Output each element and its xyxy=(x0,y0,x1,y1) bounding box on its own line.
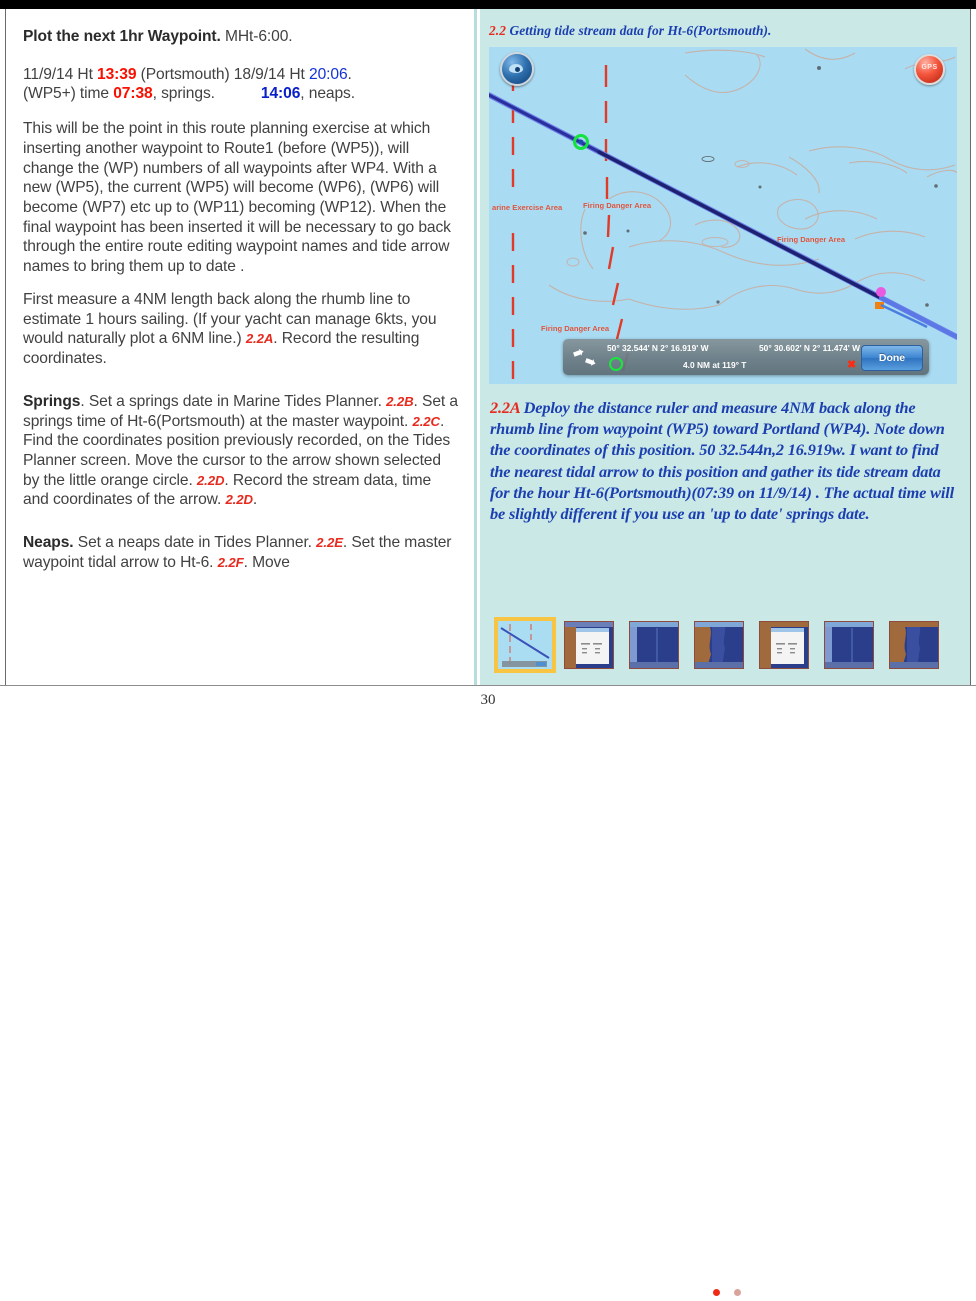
map-label-marine-exercise-area: arine Exercise Area xyxy=(492,203,562,212)
document-page: Plot the next 1hr Waypoint. MHt-6:00. 11… xyxy=(0,0,976,722)
thumbnail-chart-dark-2[interactable] xyxy=(824,621,874,669)
springs-text-e: . xyxy=(253,491,257,508)
page-dot-2[interactable] xyxy=(734,1289,741,1296)
page-dots xyxy=(494,1283,960,1295)
section-number: 2.2 xyxy=(489,23,506,38)
thumbnail-strip xyxy=(494,617,960,673)
springs-label: Springs xyxy=(23,393,80,410)
instruction-paragraph-text: Deploy the distance ruler and measure 4N… xyxy=(490,398,954,523)
ruler-coord-to: 50° 30.602' N 2° 11.474' W xyxy=(759,343,860,353)
tide-times-block: 11/9/14 Ht 13:39 (Portsmouth) 18/9/14 Ht… xyxy=(23,65,460,104)
chart-vector-layer xyxy=(489,47,957,384)
page-title: Plot the next 1hr Waypoint. MHt-6:00. xyxy=(23,27,460,47)
ref-2-2a: 2.2A xyxy=(246,331,273,346)
ruler-distance-bearing: 4.0 NM at 119° T xyxy=(683,360,746,370)
thumbnail-chart-coast-2[interactable] xyxy=(889,621,939,669)
paragraph-measure: First measure a 4NM length back along th… xyxy=(23,290,460,369)
springs-text-a: . Set a springs date in Marine Tides Pla… xyxy=(80,393,386,410)
thumbnail-chart-dark-1[interactable] xyxy=(629,621,679,669)
gps-button[interactable]: GPS xyxy=(914,54,945,85)
tide-neaps-wp-time: 14:06 xyxy=(261,85,300,102)
footer-divider xyxy=(0,685,976,686)
tide-neaps-ht-time: 20:06 xyxy=(309,66,348,83)
tide-line2-suffix: , neaps. xyxy=(300,85,355,102)
tide-line1-suffix: . xyxy=(348,66,352,83)
ref-2-2c: 2.2C xyxy=(413,414,440,429)
paragraph-neaps: Neaps. Set a neaps date in Tides Planner… xyxy=(23,533,460,572)
done-button[interactable]: Done xyxy=(861,345,923,371)
thumbnail-chart-coast-1[interactable] xyxy=(694,621,744,669)
map-label-firing-danger-area-2: Firing Danger Area xyxy=(777,235,845,244)
thumbnail-chart-ruler[interactable] xyxy=(494,617,556,673)
ref-2-2e: 2.2E xyxy=(316,535,343,550)
page-number: 30 xyxy=(0,692,976,709)
page-dot-1[interactable] xyxy=(713,1289,720,1296)
map-label-firing-danger-area-3: Firing Danger Area xyxy=(541,324,609,333)
ruler-info-bar: ➠ ➠ 50° 32.544' N 2° 16.919' W 50° 30.60… xyxy=(563,339,929,375)
map-label-firing-danger-area-1: Firing Danger Area xyxy=(583,201,651,210)
paragraph-springs: Springs. Set a springs date in Marine Ti… xyxy=(23,392,460,510)
instruction-paragraph: 2.2A Deploy the distance ruler and measu… xyxy=(490,397,962,524)
ref-2-2f: 2.2F xyxy=(218,555,244,570)
red-x-marker-icon: ✖ xyxy=(847,358,856,371)
section-heading-text: Getting tide stream data for Ht-6(Portsm… xyxy=(506,23,771,38)
eye-icon[interactable] xyxy=(500,52,534,86)
top-black-bar xyxy=(0,0,976,9)
ref-2-2d-second: 2.2D xyxy=(225,492,252,507)
ruler-arrow-icon-1[interactable]: ➠ xyxy=(571,344,587,363)
page-title-bold: Plot the next 1hr Waypoint. xyxy=(23,28,221,45)
chart-plotter-screenshot[interactable]: GPS arine Exercise Area Firing Danger Ar… xyxy=(489,47,957,384)
ref-2-2d-first: 2.2D xyxy=(197,473,224,488)
tide-line2-mid: , springs. xyxy=(153,85,215,102)
page-sheet: Plot the next 1hr Waypoint. MHt-6:00. 11… xyxy=(0,9,976,685)
tide-springs-ht-time: 13:39 xyxy=(97,66,136,83)
left-text-column: Plot the next 1hr Waypoint. MHt-6:00. 11… xyxy=(5,9,477,685)
spacer-2 xyxy=(23,523,460,533)
tide-line1-prefix: 11/9/14 Ht xyxy=(23,66,97,83)
spacer xyxy=(23,382,460,392)
tide-line1-mid: (Portsmouth) 18/9/14 Ht xyxy=(136,66,309,83)
ruler-coord-from: 50° 32.544' N 2° 16.919' W xyxy=(607,343,708,353)
section-heading: 2.2 Getting tide stream data for Ht-6(Po… xyxy=(489,23,964,39)
green-circle-marker-icon xyxy=(609,357,623,371)
ref-2-2b: 2.2B xyxy=(386,394,413,409)
thumbnail-tides-table-2[interactable] xyxy=(759,621,809,669)
tide-line2-prefix: (WP5+) time xyxy=(23,85,113,102)
neaps-text-a: Set a neaps date in Tides Planner. xyxy=(74,534,317,551)
neaps-text-c: . Move xyxy=(244,554,290,571)
paragraph-route-renumbering: This will be the point in this route pla… xyxy=(23,119,460,277)
ref-2-2a-heading: 2.2A xyxy=(490,398,520,417)
page-title-rest: MHt-6:00. xyxy=(221,28,293,45)
neaps-label: Neaps. xyxy=(23,534,74,551)
thumbnail-tides-table-1[interactable] xyxy=(564,621,614,669)
tide-springs-wp-time: 07:38 xyxy=(113,85,152,102)
right-illustration-column: 2.2 Getting tide stream data for Ht-6(Po… xyxy=(480,9,971,685)
